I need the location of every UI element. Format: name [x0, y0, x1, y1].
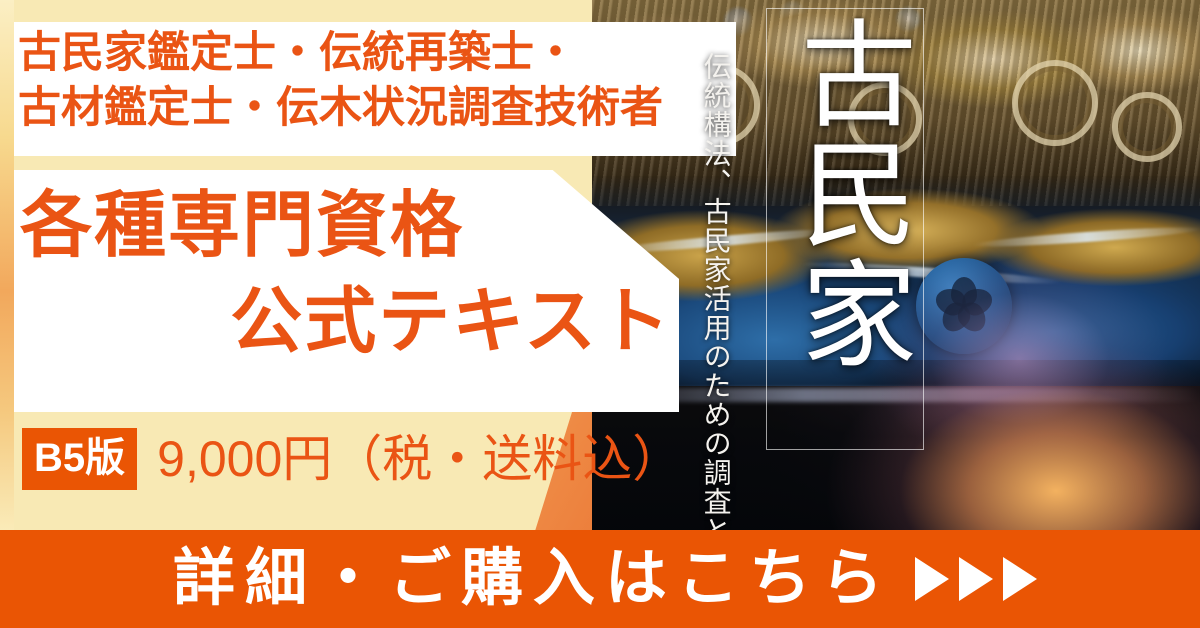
certifications-line-1: 古民家鑑定士・伝統再築士・ — [18, 26, 732, 81]
triangle-right-icon — [959, 557, 993, 601]
promo-banner: 古民家 伝統構法、古民家活用のための調査と再生の 古民家鑑定士・伝統再築士・ 古… — [0, 0, 1200, 628]
cta-label: 詳細・ご購入はこちら — [163, 548, 893, 610]
headline-line-2: 公式テキスト — [20, 274, 680, 370]
cta-button[interactable]: 詳細・ご購入はこちら — [0, 530, 1200, 628]
certifications-text: 古民家鑑定士・伝統再築士・ 古材鑑定士・伝木状況調査技術者 — [18, 26, 732, 136]
headline-text: 各種専門資格 公式テキスト — [20, 178, 680, 371]
wood-scroll-motif — [1112, 92, 1182, 162]
price-row: B5版 9,000円（税・送料込） — [22, 428, 682, 490]
book-title: 古民家 — [774, 14, 914, 374]
size-badge: B5版 — [22, 428, 137, 490]
left-edge-strip — [0, 0, 14, 530]
wood-scroll-motif — [1012, 60, 1098, 146]
triangle-right-icon — [1003, 557, 1037, 601]
price-amount: 9,000円（税・送料込） — [157, 434, 682, 484]
headline-line-1: 各種専門資格 — [20, 178, 680, 274]
cta-arrows — [915, 557, 1037, 601]
book-subtitle: 伝統構法、古民家活用のための調査と再生の — [700, 52, 730, 522]
certifications-line-2: 古材鑑定士・伝木状況調査技術者 — [18, 81, 732, 136]
triangle-right-icon — [915, 557, 949, 601]
